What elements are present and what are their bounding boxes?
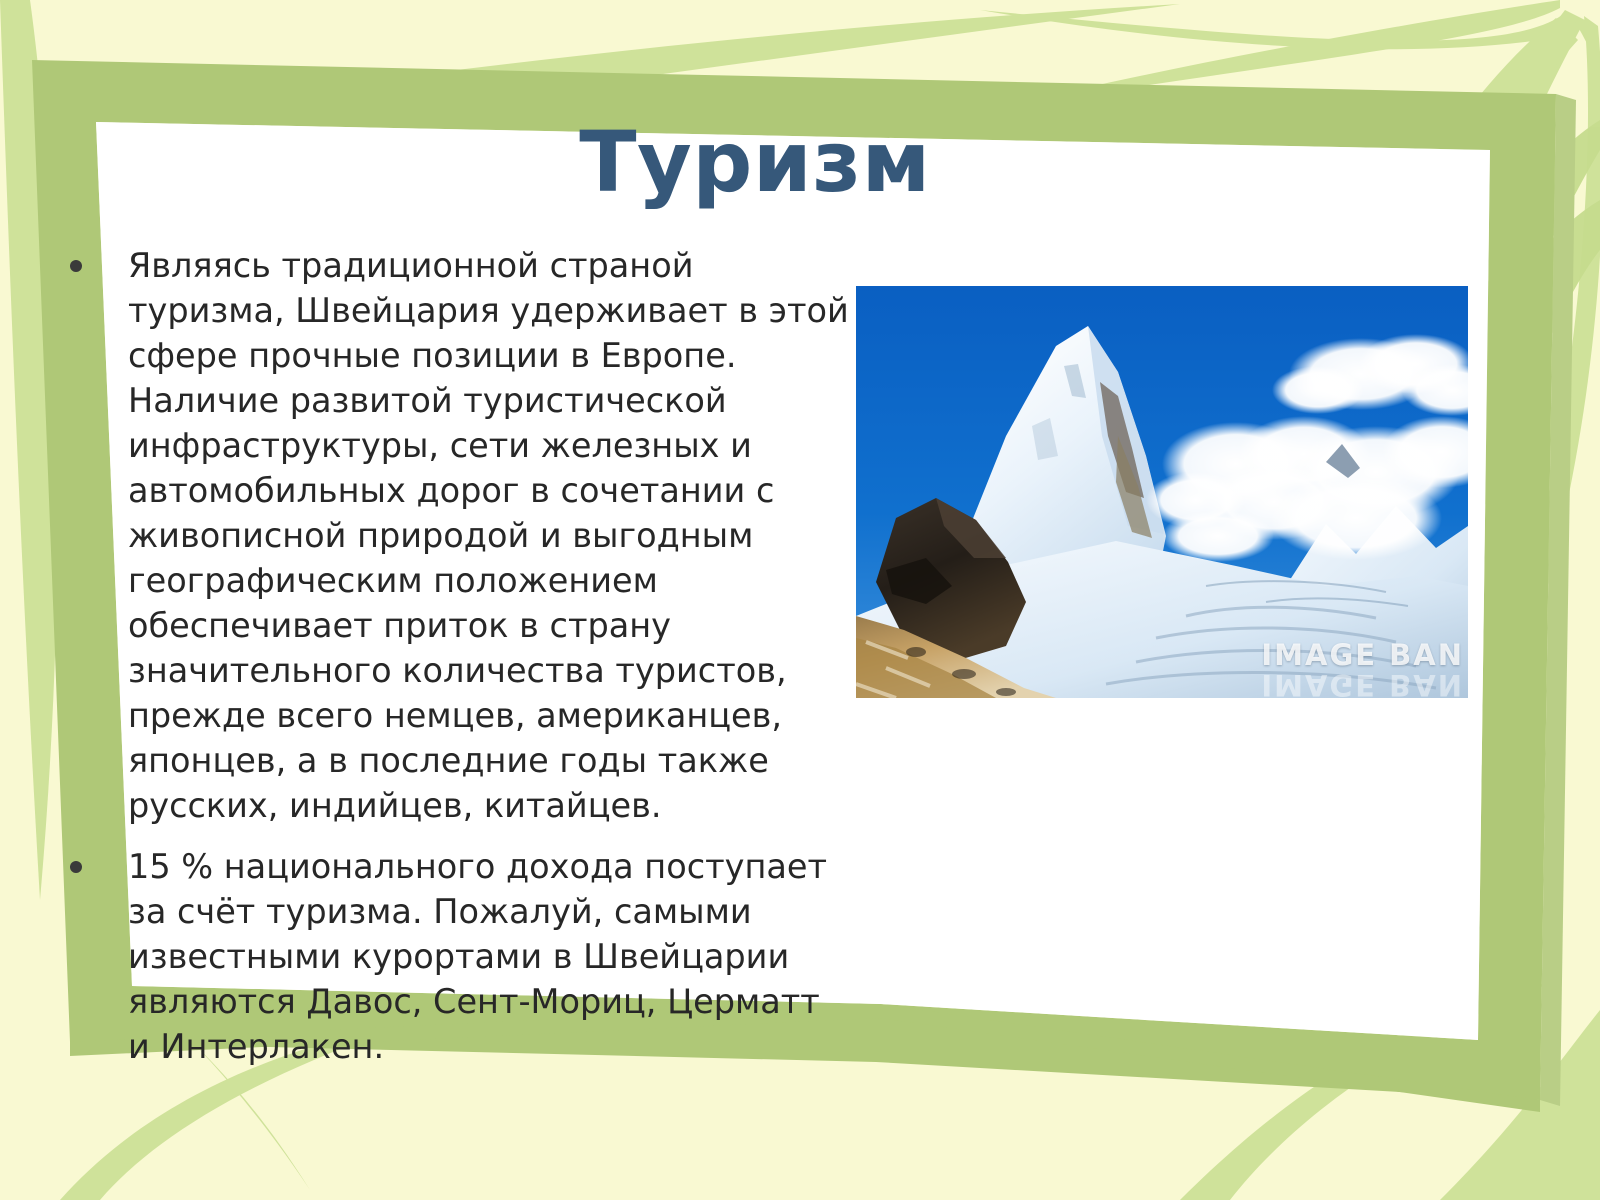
list-item-text: 15 % национального дохода поступает за с… bbox=[128, 847, 827, 1066]
bullet-dot-icon bbox=[70, 260, 82, 272]
list-item-text: Являясь традиционной страной туризма, Шв… bbox=[128, 246, 849, 825]
page-title: Туризм bbox=[120, 118, 1390, 206]
image-watermark-reflection: IMAGE BAN bbox=[1261, 668, 1464, 698]
list-item: Являясь традиционной страной туризма, Шв… bbox=[62, 243, 852, 828]
mountain-illustration bbox=[856, 286, 1468, 698]
bullet-list: Являясь традиционной страной туризма, Шв… bbox=[62, 243, 852, 1085]
bullet-dot-icon bbox=[70, 861, 82, 873]
list-item: 15 % национального дохода поступает за с… bbox=[62, 844, 852, 1069]
snowy-mountain-peak-photo: IMAGE BAN IMAGE BAN bbox=[856, 286, 1468, 698]
image-watermark: IMAGE BAN bbox=[1261, 638, 1464, 672]
slide-content: Туризм Являясь традиционной страной тури… bbox=[0, 0, 1600, 1200]
presentation-slide: Туризм Являясь традиционной страной тури… bbox=[0, 0, 1600, 1200]
